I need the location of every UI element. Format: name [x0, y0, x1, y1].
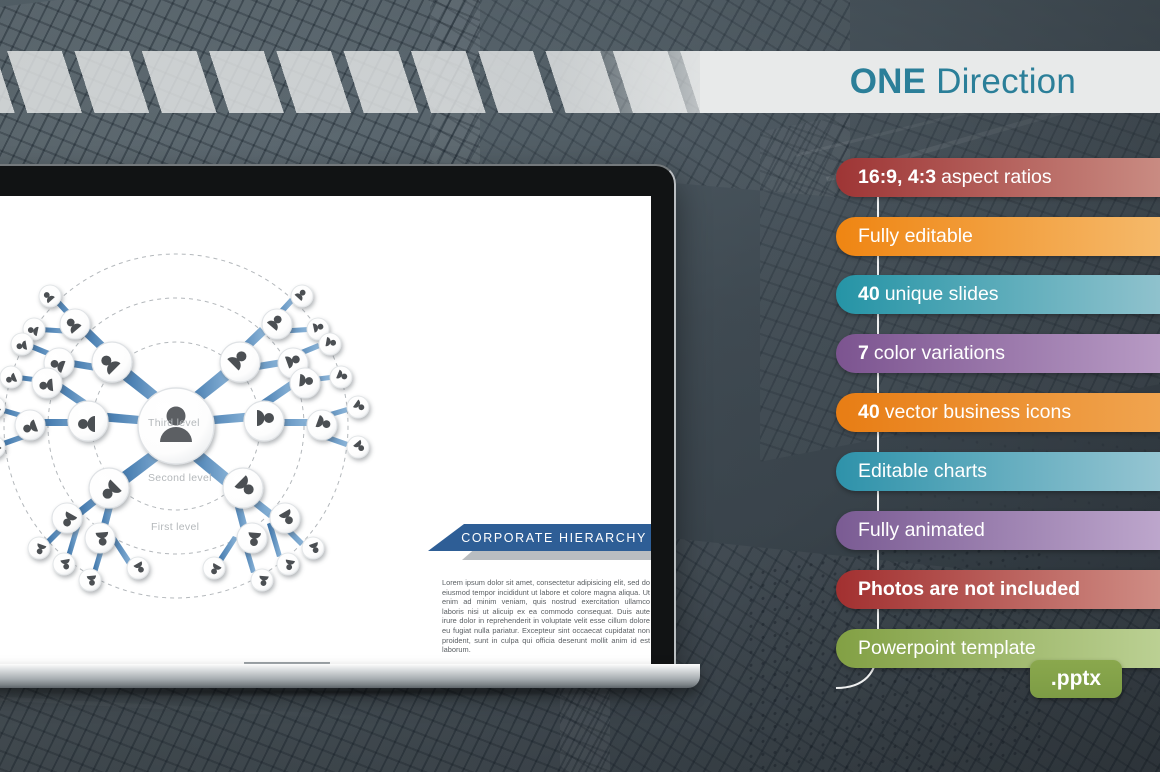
- feature-badge[interactable]: Photos are not included: [836, 570, 1160, 609]
- ring-label-first: First level: [151, 521, 199, 533]
- presentation-slide: Third level Second level First level COR…: [0, 196, 651, 668]
- banner-title: CORPORATE HIERARCHY: [428, 524, 651, 551]
- laptop-base: [0, 664, 700, 688]
- feature-badge-label: aspect ratios: [936, 166, 1052, 189]
- feature-badge-label: Photos are not included: [858, 578, 1080, 601]
- brand-title: ONE Direction: [850, 58, 1076, 106]
- file-format-tag: .pptx: [1030, 660, 1122, 698]
- feature-badge-label: Fully animated: [858, 519, 985, 542]
- laptop-screen: Third level Second level First level COR…: [0, 196, 651, 668]
- feature-badge-label: unique slides: [880, 283, 999, 306]
- feature-badge-prefix: 7: [858, 342, 869, 365]
- feature-badge-label: Editable charts: [858, 460, 987, 483]
- brand-title-light: Direction: [936, 62, 1076, 101]
- feature-badge-label: vector business icons: [880, 401, 1071, 424]
- laptop-mockup: Third level Second level First level COR…: [0, 164, 700, 694]
- ring-label-third: Third level: [148, 417, 200, 429]
- feature-badge[interactable]: Editable charts: [836, 452, 1160, 491]
- header-band-stripes: [0, 51, 760, 113]
- feature-badge-label: color variations: [869, 342, 1005, 365]
- feature-badge-prefix: 40: [858, 283, 880, 306]
- feature-badge-prefix: 16:9, 4:3: [858, 166, 936, 189]
- feature-badge[interactable]: Fully editable: [836, 217, 1160, 256]
- slide-title-banner: CORPORATE HIERARCHY: [428, 524, 651, 562]
- ring-label-second: Second level: [148, 472, 212, 484]
- laptop-base-shadow: [16, 687, 656, 697]
- feature-badge-prefix: 40: [858, 401, 880, 424]
- feature-badge-label: Fully editable: [858, 225, 973, 248]
- slide-body-text: Lorem ipsum dolor sit amet, consectetur …: [442, 578, 650, 655]
- feature-badge-label: Powerpoint template: [858, 637, 1036, 660]
- feature-badge[interactable]: 40vector business icons: [836, 393, 1160, 432]
- feature-badge[interactable]: 16:9, 4:3aspect ratios: [836, 158, 1160, 197]
- feature-badge[interactable]: 7color variations: [836, 334, 1160, 373]
- feature-badge[interactable]: 40unique slides: [836, 275, 1160, 314]
- feature-badge[interactable]: Fully animated: [836, 511, 1160, 550]
- brand-title-bold: ONE: [850, 62, 926, 101]
- feature-badge-list: 16:9, 4:3aspect ratiosFully editable40un…: [836, 158, 1160, 678]
